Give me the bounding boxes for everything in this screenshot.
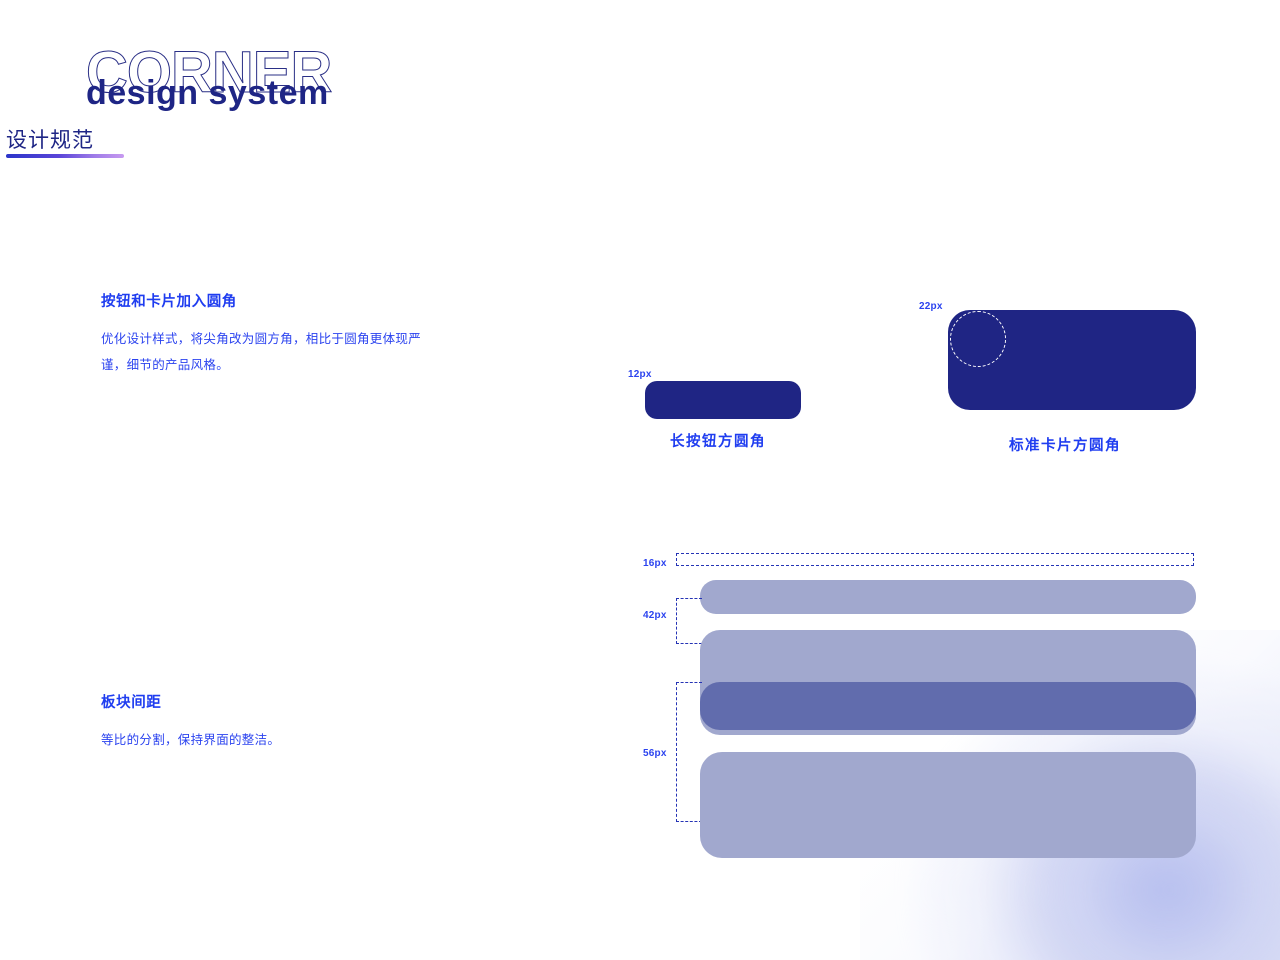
spacing-block-3[interactable] <box>700 752 1196 858</box>
long-button-shape[interactable] <box>645 381 801 419</box>
spacing-guide-gap-large <box>676 682 702 822</box>
page-subtitle: 设计规范 <box>6 128 124 153</box>
radius-label-standard-card: 22px <box>919 301 943 312</box>
section-body-corner-radius: 优化设计样式，将尖角改为圆方角，相比于圆角更体现严谨，细节的产品风格。 <box>101 326 431 379</box>
spacing-block-highlight[interactable] <box>700 682 1196 730</box>
standard-card-shape[interactable] <box>948 310 1196 410</box>
caption-standard-card: 标准卡片方圆角 <box>1009 434 1121 455</box>
section-body-section-spacing: 等比的分割，保持界面的整洁。 <box>101 727 431 753</box>
spacing-guide-gap-between-blocks <box>676 598 702 644</box>
spacing-guide-top-inset <box>676 553 1194 566</box>
subtitle-underline <box>6 154 124 158</box>
page-header: CORNER design system <box>86 44 646 174</box>
spacing-label-gap-large: 56px <box>643 748 667 759</box>
radius-guide-circle-long-button <box>649 316 691 358</box>
title-design-system: design system <box>86 76 329 110</box>
section-title-corner-radius: 按钮和卡片加入圆角 <box>101 290 237 311</box>
design-system-canvas: CORNER design system 设计规范 按钮和卡片加入圆角 优化设计… <box>0 0 1280 960</box>
section-title-section-spacing: 板块间距 <box>101 691 161 712</box>
spacing-label-gap-between-blocks: 42px <box>643 610 667 621</box>
radius-label-long-button: 12px <box>628 369 652 380</box>
spacing-label-top-inset: 16px <box>643 558 667 569</box>
spacing-block-1[interactable] <box>700 580 1196 614</box>
subtitle-block: 设计规范 <box>6 128 124 158</box>
caption-long-button: 长按钮方圆角 <box>670 430 766 451</box>
